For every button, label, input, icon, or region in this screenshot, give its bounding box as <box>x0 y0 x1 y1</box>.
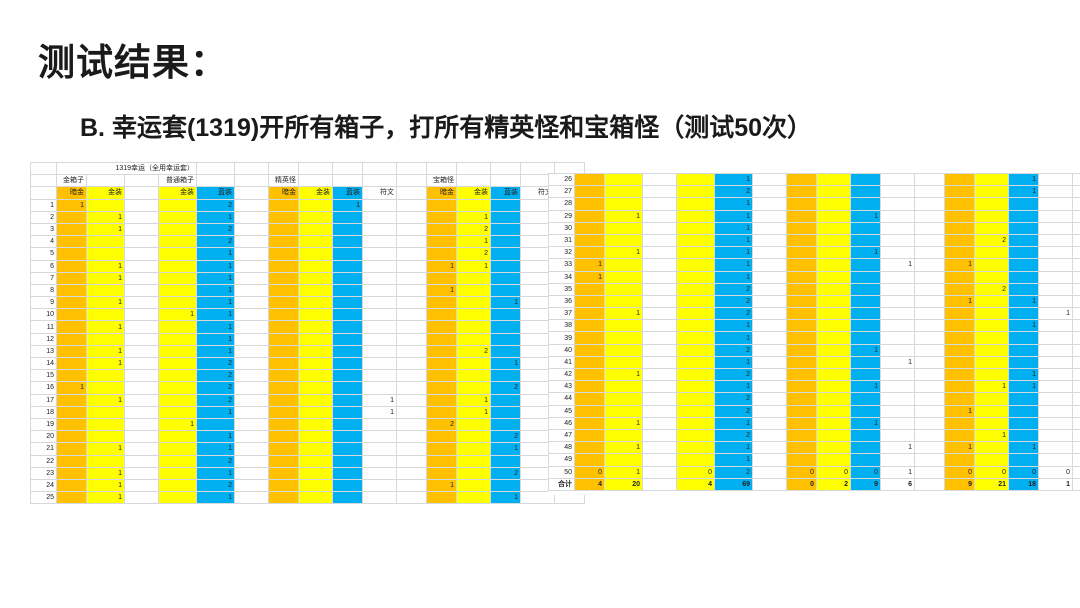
cell-宝箱怪-暗金[interactable] <box>427 321 457 333</box>
grid-cell[interactable] <box>915 429 945 441</box>
grid-cell[interactable] <box>1073 442 1080 454</box>
cell-精英怪-暗金[interactable] <box>787 417 817 429</box>
grid-cell[interactable] <box>397 370 427 382</box>
grid-cell[interactable] <box>125 284 159 296</box>
grid-cell[interactable] <box>1073 332 1080 344</box>
cell-普通箱子-金装[interactable] <box>159 284 197 296</box>
grid-cell[interactable] <box>915 356 945 368</box>
cell-精英怪-符文[interactable] <box>363 370 397 382</box>
cell-精英怪-暗金[interactable] <box>269 345 299 357</box>
cell-精英怪-蓝装[interactable] <box>851 283 881 295</box>
cell-宝箱怪-蓝装[interactable] <box>1009 222 1039 234</box>
cell-普通箱子-蓝装[interactable] <box>197 418 235 430</box>
cell-精英怪-蓝装[interactable] <box>333 333 363 345</box>
cell-宝箱怪-金装[interactable]: 2 <box>457 345 491 357</box>
cell-金箱子-金装[interactable] <box>605 320 643 332</box>
cell-精英怪-金装[interactable] <box>817 405 851 417</box>
cell-精英怪-符文[interactable] <box>881 186 915 198</box>
cell-金箱子-金装[interactable]: 1 <box>87 345 125 357</box>
cell-普通箱子-蓝装[interactable]: 1 <box>197 309 235 321</box>
table-row[interactable]: 301 <box>549 222 1080 234</box>
cell-精英怪-蓝装[interactable] <box>333 370 363 382</box>
grid-cell[interactable] <box>125 223 159 235</box>
grid-cell[interactable] <box>643 186 677 198</box>
cell-普通箱子-蓝装[interactable]: 1 <box>197 345 235 357</box>
cell-普通箱子-金装[interactable] <box>677 405 715 417</box>
cell-普通箱子-金装[interactable] <box>677 320 715 332</box>
cell-宝箱怪-符文[interactable] <box>1039 442 1073 454</box>
table-row[interactable]: 61111 <box>31 260 585 272</box>
grid-cell[interactable] <box>1073 247 1080 259</box>
cell-宝箱怪-暗金[interactable] <box>945 308 975 320</box>
cell-金箱子-暗金[interactable] <box>57 309 87 321</box>
cell-精英怪-符文[interactable] <box>363 358 397 370</box>
cell-金箱子-暗金[interactable] <box>57 358 87 370</box>
table-row[interactable]: 9111 <box>31 297 585 309</box>
table-row[interactable]: 442 <box>549 393 1080 405</box>
grid-cell[interactable] <box>397 492 427 504</box>
cell-精英怪-蓝装[interactable] <box>333 260 363 272</box>
cell-精英怪-符文[interactable]: 1 <box>881 259 915 271</box>
cell-普通箱子-金装[interactable] <box>159 321 197 333</box>
cell-宝箱怪-暗金[interactable] <box>945 393 975 405</box>
cell-金箱子-暗金[interactable] <box>57 248 87 260</box>
cell-普通箱子-金装[interactable]: 1 <box>159 418 197 430</box>
cell-精英怪-暗金[interactable] <box>787 259 817 271</box>
cell-金箱子-暗金[interactable] <box>575 393 605 405</box>
cell-宝箱怪-暗金[interactable] <box>427 272 457 284</box>
grid-cell[interactable] <box>235 467 269 479</box>
cell-宝箱怪-蓝装[interactable] <box>1009 417 1039 429</box>
grid-cell[interactable] <box>1073 271 1080 283</box>
cell-宝箱怪-暗金[interactable] <box>945 320 975 332</box>
cell-宝箱怪-蓝装[interactable] <box>1009 198 1039 210</box>
cell-普通箱子-蓝装[interactable]: 1 <box>197 431 235 443</box>
cell-金箱子-金装[interactable]: 1 <box>605 210 643 222</box>
cell-普通箱子-金装[interactable] <box>677 442 715 454</box>
cell-宝箱怪-金装[interactable]: 2 <box>457 248 491 260</box>
cell-精英怪-符文[interactable] <box>363 492 397 504</box>
grid-cell[interactable] <box>643 356 677 368</box>
cell-宝箱怪-暗金[interactable]: 1 <box>427 284 457 296</box>
grid-cell[interactable] <box>397 236 427 248</box>
cell-宝箱怪-蓝装[interactable]: 1 <box>1009 174 1039 186</box>
cell-宝箱怪-蓝装[interactable] <box>1009 332 1039 344</box>
grid-cell[interactable] <box>643 259 677 271</box>
cell-宝箱怪-金装[interactable] <box>975 417 1009 429</box>
cell-金箱子-金装[interactable] <box>605 234 643 246</box>
cell-精英怪-暗金[interactable] <box>787 429 817 441</box>
grid-cell[interactable] <box>397 467 427 479</box>
cell-宝箱怪-蓝装[interactable] <box>1009 308 1039 320</box>
cell-精英怪-金装[interactable] <box>817 320 851 332</box>
cell-精英怪-暗金[interactable] <box>787 369 817 381</box>
cell-宝箱怪-暗金[interactable] <box>945 234 975 246</box>
grid-cell[interactable] <box>915 442 945 454</box>
grid-cell[interactable] <box>235 431 269 443</box>
cell-精英怪-符文[interactable] <box>881 332 915 344</box>
cell-宝箱怪-金装[interactable] <box>975 308 1009 320</box>
cell-金箱子-暗金[interactable] <box>575 405 605 417</box>
cell-精英怪-符文[interactable] <box>363 309 397 321</box>
table-row[interactable]: 2611 <box>549 174 1080 186</box>
cell-金箱子-暗金[interactable] <box>575 332 605 344</box>
table-row[interactable]: 32111 <box>549 247 1080 259</box>
cell-普通箱子-金装[interactable] <box>677 295 715 307</box>
grid-cell[interactable] <box>125 272 159 284</box>
cell-金箱子-暗金[interactable] <box>57 479 87 491</box>
cell-精英怪-符文[interactable] <box>363 418 397 430</box>
cell-精英怪-金装[interactable] <box>817 247 851 259</box>
cell-宝箱怪-符文[interactable] <box>1039 332 1073 344</box>
grid-cell[interactable] <box>397 418 427 430</box>
grid-cell[interactable] <box>753 295 787 307</box>
cell-宝箱怪-蓝装[interactable] <box>1009 283 1039 295</box>
cell-普通箱子-金装[interactable] <box>677 247 715 259</box>
grid-cell[interactable] <box>915 417 945 429</box>
table-row[interactable]: 24121 <box>31 479 585 491</box>
cell-宝箱怪-暗金[interactable] <box>945 381 975 393</box>
cell-宝箱怪-暗金[interactable]: 1 <box>427 479 457 491</box>
grid-cell[interactable] <box>753 393 787 405</box>
cell-精英怪-蓝装[interactable] <box>333 248 363 260</box>
cell-精英怪-符文[interactable] <box>881 210 915 222</box>
cell-普通箱子-蓝装[interactable]: 2 <box>715 466 753 478</box>
cell-普通箱子-蓝装[interactable]: 1 <box>197 297 235 309</box>
cell-宝箱怪-蓝装[interactable]: 2 <box>491 431 521 443</box>
grid-cell[interactable] <box>125 382 159 394</box>
cell-金箱子-金装[interactable]: 1 <box>87 467 125 479</box>
cell-宝箱怪-金装[interactable]: 1 <box>975 429 1009 441</box>
cell-精英怪-金装[interactable] <box>817 198 851 210</box>
grid-cell[interactable] <box>915 222 945 234</box>
cell-宝箱怪-金装[interactable] <box>457 297 491 309</box>
cell-宝箱怪-金装[interactable] <box>975 259 1009 271</box>
cell-精英怪-暗金[interactable] <box>269 467 299 479</box>
grid-cell[interactable] <box>125 321 159 333</box>
table-row[interactable]: 281 <box>549 198 1080 210</box>
cell-金箱子-金装[interactable]: 1 <box>87 358 125 370</box>
grid-cell[interactable] <box>125 211 159 223</box>
grid-cell[interactable] <box>753 308 787 320</box>
table-row[interactable]: 431111 <box>549 381 1080 393</box>
cell-精英怪-蓝装[interactable] <box>851 356 881 368</box>
cell-普通箱子-蓝装[interactable]: 1 <box>197 443 235 455</box>
cell-宝箱怪-蓝装[interactable] <box>491 479 521 491</box>
cell-精英怪-蓝装[interactable] <box>851 405 881 417</box>
cell-宝箱怪-蓝装[interactable]: 1 <box>491 358 521 370</box>
cell-精英怪-金装[interactable] <box>299 394 333 406</box>
cell-宝箱怪-金装[interactable] <box>975 271 1009 283</box>
cell-普通箱子-金装[interactable] <box>677 332 715 344</box>
cell-金箱子-暗金[interactable] <box>575 308 605 320</box>
table-row[interactable]: 421 <box>31 236 585 248</box>
cell-精英怪-暗金[interactable] <box>269 260 299 272</box>
cell-金箱子-金装[interactable] <box>605 271 643 283</box>
grid-cell[interactable] <box>1073 429 1080 441</box>
grid-cell[interactable] <box>753 442 787 454</box>
cell-普通箱子-金装[interactable] <box>677 259 715 271</box>
grid-cell[interactable] <box>235 358 269 370</box>
grid-cell[interactable] <box>235 199 269 211</box>
cell-精英怪-符文[interactable] <box>363 260 397 272</box>
cell-宝箱怪-金装[interactable]: 2 <box>457 223 491 235</box>
cell-金箱子-金装[interactable] <box>87 199 125 211</box>
grid-cell[interactable] <box>915 186 945 198</box>
cell-宝箱怪-符文[interactable]: 1 <box>1039 308 1073 320</box>
cell-金箱子-暗金[interactable] <box>57 394 87 406</box>
cell-精英怪-蓝装[interactable] <box>333 455 363 467</box>
cell-普通箱子-蓝装[interactable]: 2 <box>197 382 235 394</box>
grid-cell[interactable] <box>753 247 787 259</box>
grid-cell[interactable] <box>753 369 787 381</box>
cell-宝箱怪-蓝装[interactable] <box>491 333 521 345</box>
cell-精英怪-蓝装[interactable] <box>851 198 881 210</box>
cell-精英怪-暗金[interactable] <box>269 443 299 455</box>
cell-精英怪-金装[interactable] <box>817 234 851 246</box>
cell-金箱子-金装[interactable]: 1 <box>87 272 125 284</box>
cell-金箱子-金装[interactable]: 1 <box>87 443 125 455</box>
cell-金箱子-金装[interactable] <box>605 259 643 271</box>
table-row[interactable]: 171211 <box>31 394 585 406</box>
grid-cell[interactable] <box>643 271 677 283</box>
cell-宝箱怪-金装[interactable] <box>457 492 491 504</box>
cell-宝箱怪-暗金[interactable] <box>945 198 975 210</box>
cell-精英怪-暗金[interactable] <box>269 358 299 370</box>
table-row[interactable]: 36211 <box>549 295 1080 307</box>
cell-宝箱怪-蓝装[interactable] <box>491 309 521 321</box>
cell-精英怪-蓝装[interactable] <box>333 223 363 235</box>
grid-cell[interactable] <box>915 198 945 210</box>
cell-精英怪-蓝装[interactable] <box>333 345 363 357</box>
cell-宝箱怪-金装[interactable] <box>975 332 1009 344</box>
grid-cell[interactable] <box>643 222 677 234</box>
grid-cell[interactable] <box>643 234 677 246</box>
grid-cell[interactable] <box>125 358 159 370</box>
grid-cell[interactable] <box>643 369 677 381</box>
cell-金箱子-金装[interactable] <box>605 344 643 356</box>
cell-宝箱怪-金装[interactable] <box>457 309 491 321</box>
grid-cell[interactable] <box>1073 234 1080 246</box>
grid-cell[interactable] <box>397 431 427 443</box>
cell-精英怪-蓝装[interactable] <box>851 295 881 307</box>
cell-普通箱子-金装[interactable] <box>159 406 197 418</box>
cell-宝箱怪-金装[interactable] <box>457 370 491 382</box>
cell-精英怪-符文[interactable] <box>363 297 397 309</box>
cell-金箱子-金装[interactable]: 1 <box>87 321 125 333</box>
grid-cell[interactable] <box>235 394 269 406</box>
cell-普通箱子-蓝装[interactable]: 2 <box>197 199 235 211</box>
grid-cell[interactable] <box>915 247 945 259</box>
cell-普通箱子-金装[interactable]: 0 <box>677 466 715 478</box>
cell-宝箱怪-暗金[interactable] <box>427 443 457 455</box>
cell-金箱子-暗金[interactable] <box>57 467 87 479</box>
cell-精英怪-金装[interactable] <box>299 211 333 223</box>
cell-精英怪-金装[interactable] <box>817 283 851 295</box>
table-row[interactable]: 1121 <box>31 199 585 211</box>
cell-普通箱子-金装[interactable] <box>677 369 715 381</box>
cell-精英怪-蓝装[interactable] <box>333 382 363 394</box>
cell-精英怪-蓝装[interactable]: 0 <box>851 466 881 478</box>
cell-普通箱子-金装[interactable] <box>159 248 197 260</box>
cell-宝箱怪-金装[interactable]: 2 <box>975 234 1009 246</box>
cell-精英怪-暗金[interactable] <box>787 332 817 344</box>
cell-精英怪-暗金[interactable] <box>787 174 817 186</box>
cell-宝箱怪-蓝装[interactable] <box>1009 259 1039 271</box>
cell-金箱子-暗金[interactable] <box>575 429 605 441</box>
grid-cell[interactable] <box>915 283 945 295</box>
cell-普通箱子-金装[interactable] <box>677 454 715 466</box>
cell-宝箱怪-符文[interactable]: 0 <box>1039 466 1073 478</box>
cell-金箱子-金装[interactable] <box>87 248 125 260</box>
table-row[interactable]: 18111 <box>31 406 585 418</box>
table-row[interactable]: 491 <box>549 454 1080 466</box>
table-row[interactable]: 4521 <box>549 405 1080 417</box>
grid-cell[interactable] <box>125 236 159 248</box>
cell-普通箱子-金装[interactable] <box>159 467 197 479</box>
cell-宝箱怪-暗金[interactable] <box>427 492 457 504</box>
table-row[interactable]: 3811 <box>549 320 1080 332</box>
cell-精英怪-符文[interactable] <box>881 429 915 441</box>
table-row[interactable]: 152 <box>31 370 585 382</box>
grid-cell[interactable] <box>915 344 945 356</box>
cell-宝箱怪-暗金[interactable]: 1 <box>945 442 975 454</box>
table-row[interactable]: 2012 <box>31 431 585 443</box>
cell-普通箱子-金装[interactable]: 1 <box>159 309 197 321</box>
cell-精英怪-符文[interactable] <box>881 320 915 332</box>
table-row[interactable]: 3411 <box>549 271 1080 283</box>
cell-精英怪-暗金[interactable] <box>269 297 299 309</box>
cell-金箱子-金装[interactable]: 1 <box>605 466 643 478</box>
cell-普通箱子-金装[interactable] <box>159 479 197 491</box>
cell-精英怪-金装[interactable] <box>817 369 851 381</box>
cell-普通箱子-蓝装[interactable]: 1 <box>197 272 235 284</box>
cell-宝箱怪-暗金[interactable]: 0 <box>945 466 975 478</box>
cell-宝箱怪-符文[interactable] <box>1039 259 1073 271</box>
cell-精英怪-蓝装[interactable] <box>851 429 881 441</box>
cell-金箱子-暗金[interactable] <box>57 345 87 357</box>
table-row[interactable]: 3522 <box>549 283 1080 295</box>
cell-宝箱怪-金装[interactable] <box>975 356 1009 368</box>
cell-宝箱怪-符文[interactable] <box>1039 344 1073 356</box>
cell-宝箱怪-暗金[interactable] <box>945 332 975 344</box>
cell-宝箱怪-蓝装[interactable] <box>1009 454 1039 466</box>
cell-宝箱怪-金装[interactable] <box>975 405 1009 417</box>
cell-宝箱怪-蓝装[interactable] <box>491 211 521 223</box>
grid-cell[interactable] <box>753 198 787 210</box>
grid-cell[interactable] <box>397 272 427 284</box>
cell-普通箱子-蓝装[interactable]: 2 <box>197 236 235 248</box>
cell-宝箱怪-蓝装[interactable] <box>491 223 521 235</box>
cell-精英怪-暗金[interactable] <box>787 344 817 356</box>
grid-cell[interactable] <box>643 283 677 295</box>
grid-cell[interactable] <box>753 210 787 222</box>
cell-宝箱怪-符文[interactable] <box>1039 222 1073 234</box>
cell-宝箱怪-金装[interactable] <box>975 210 1009 222</box>
cell-精英怪-暗金[interactable] <box>269 272 299 284</box>
cell-金箱子-金装[interactable] <box>87 333 125 345</box>
cell-金箱子-金装[interactable] <box>87 370 125 382</box>
cell-精英怪-暗金[interactable] <box>269 418 299 430</box>
grid-cell[interactable] <box>397 297 427 309</box>
cell-精英怪-暗金[interactable] <box>787 271 817 283</box>
cell-精英怪-金装[interactable] <box>817 174 851 186</box>
grid-cell[interactable] <box>915 454 945 466</box>
grid-cell[interactable] <box>915 174 945 186</box>
grid-cell[interactable] <box>915 271 945 283</box>
grid-cell[interactable] <box>643 320 677 332</box>
cell-精英怪-暗金[interactable] <box>269 431 299 443</box>
cell-精英怪-金装[interactable] <box>299 382 333 394</box>
grid-cell[interactable] <box>125 297 159 309</box>
cell-宝箱怪-蓝装[interactable]: 0 <box>1009 466 1039 478</box>
cell-精英怪-符文[interactable] <box>363 199 397 211</box>
grid-cell[interactable] <box>915 259 945 271</box>
cell-精英怪-符文[interactable]: 1 <box>363 406 397 418</box>
cell-普通箱子-金装[interactable] <box>677 186 715 198</box>
grid-cell[interactable] <box>1073 381 1080 393</box>
grid-cell[interactable] <box>235 272 269 284</box>
grid-cell[interactable] <box>643 332 677 344</box>
cell-宝箱怪-金装[interactable] <box>975 295 1009 307</box>
grid-cell[interactable] <box>915 393 945 405</box>
cell-宝箱怪-暗金[interactable] <box>427 223 457 235</box>
cell-精英怪-蓝装[interactable] <box>333 321 363 333</box>
grid-cell[interactable] <box>915 234 945 246</box>
spreadsheet-right[interactable]: 2611272128129111301311232111331111341135… <box>548 173 1052 495</box>
grid-cell[interactable] <box>915 405 945 417</box>
cell-宝箱怪-金装[interactable] <box>975 222 1009 234</box>
cell-金箱子-暗金[interactable] <box>57 297 87 309</box>
cell-精英怪-符文[interactable] <box>881 247 915 259</box>
grid-cell[interactable] <box>1073 186 1080 198</box>
cell-精英怪-蓝装[interactable] <box>851 186 881 198</box>
grid-cell[interactable] <box>125 370 159 382</box>
grid-cell[interactable] <box>1073 344 1080 356</box>
cell-精英怪-金装[interactable] <box>299 309 333 321</box>
cell-精英怪-暗金[interactable] <box>269 321 299 333</box>
cell-金箱子-金装[interactable] <box>87 382 125 394</box>
cell-精英怪-蓝装[interactable] <box>851 332 881 344</box>
cell-普通箱子-金装[interactable] <box>159 236 197 248</box>
table-row[interactable]: 3112 <box>549 234 1080 246</box>
cell-金箱子-暗金[interactable] <box>575 381 605 393</box>
cell-宝箱怪-符文[interactable] <box>1039 198 1073 210</box>
cell-宝箱怪-暗金[interactable] <box>427 394 457 406</box>
cell-宝箱怪-暗金[interactable] <box>427 358 457 370</box>
cell-精英怪-暗金[interactable]: 0 <box>787 466 817 478</box>
cell-金箱子-暗金[interactable] <box>575 417 605 429</box>
cell-宝箱怪-暗金[interactable] <box>427 455 457 467</box>
cell-金箱子-暗金[interactable] <box>57 492 87 504</box>
cell-金箱子-暗金[interactable] <box>57 455 87 467</box>
grid-cell[interactable] <box>753 344 787 356</box>
cell-宝箱怪-暗金[interactable] <box>427 236 457 248</box>
grid-cell[interactable] <box>643 405 677 417</box>
cell-宝箱怪-金装[interactable] <box>457 455 491 467</box>
grid-cell[interactable] <box>1073 454 1080 466</box>
grid-cell[interactable] <box>643 381 677 393</box>
cell-宝箱怪-蓝装[interactable] <box>491 370 521 382</box>
grid-cell[interactable] <box>397 321 427 333</box>
cell-金箱子-暗金[interactable] <box>57 370 87 382</box>
cell-精英怪-符文[interactable] <box>363 284 397 296</box>
grid-cell[interactable] <box>397 345 427 357</box>
table-row[interactable]: 16122 <box>31 382 585 394</box>
cell-精英怪-暗金[interactable] <box>787 320 817 332</box>
cell-精英怪-金装[interactable] <box>817 210 851 222</box>
cell-宝箱怪-符文[interactable] <box>1039 295 1073 307</box>
